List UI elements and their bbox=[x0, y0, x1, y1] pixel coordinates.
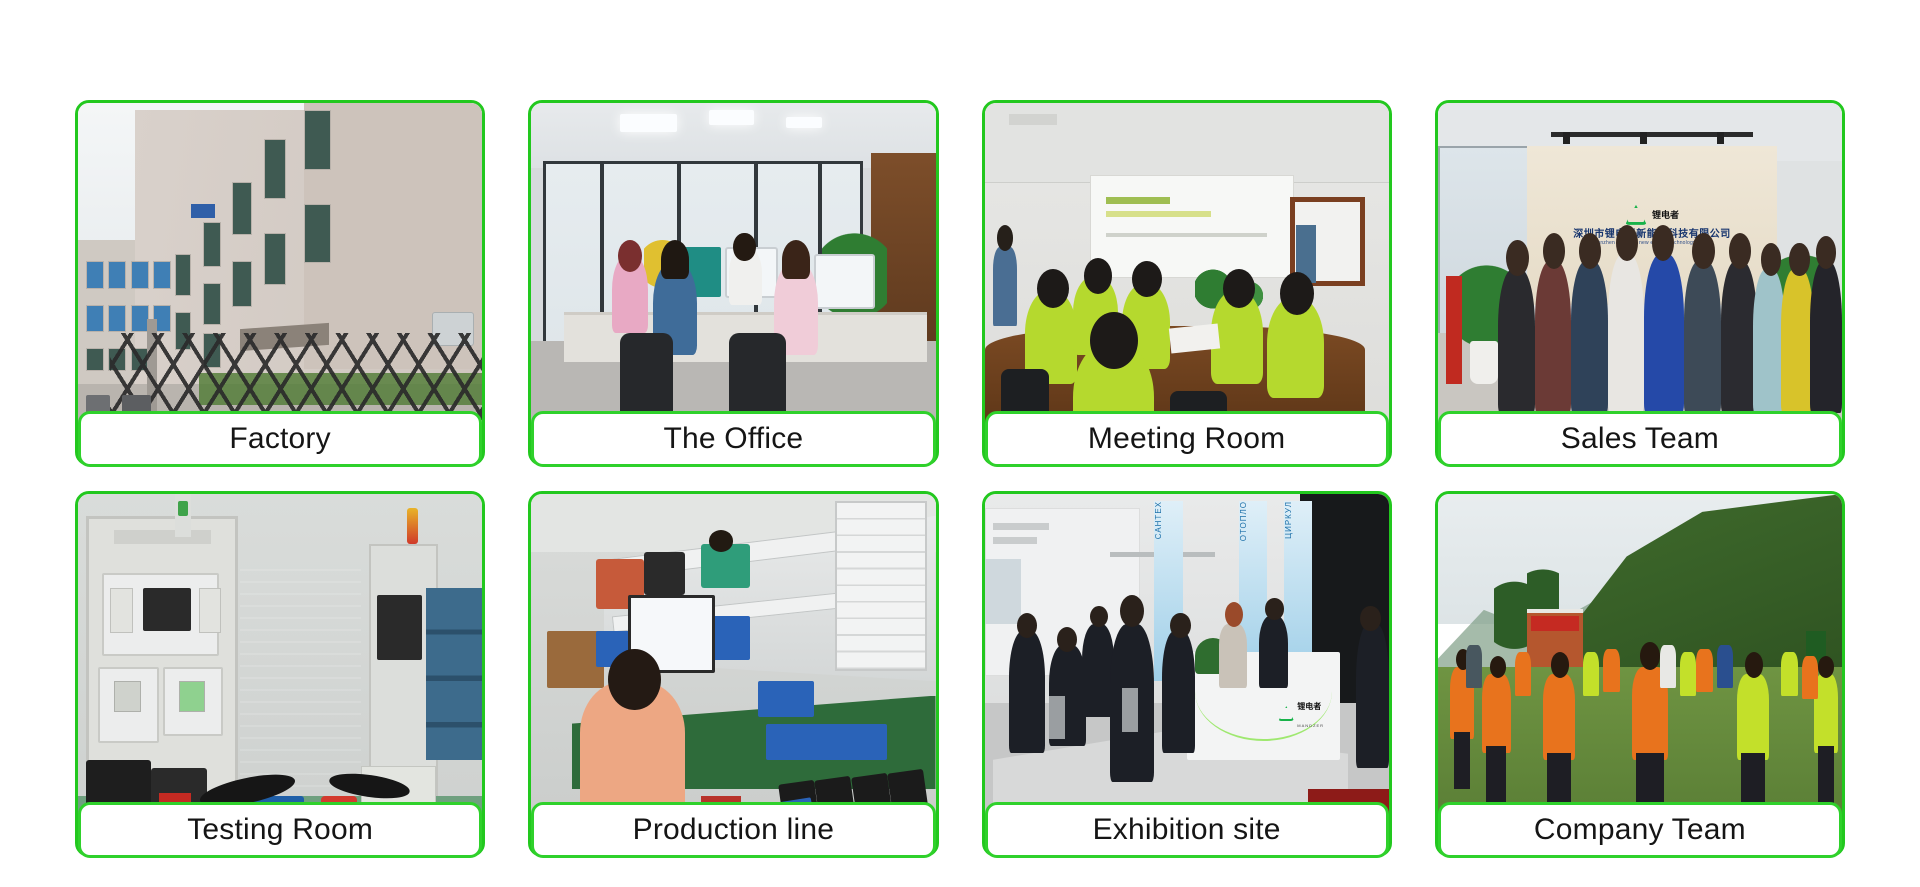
card-label-text: Sales Team bbox=[1561, 424, 1719, 454]
card-label-text: The Office bbox=[663, 424, 803, 454]
company-team-photo bbox=[1438, 494, 1842, 854]
gallery-card-factory[interactable]: Factory bbox=[75, 100, 485, 466]
production-line-photo bbox=[531, 494, 935, 854]
booth-brand-logo: 锂电者 MANDZER bbox=[1278, 696, 1324, 732]
exhibition-site-photo: САНТЕХ ОТОПЛО ЦИРКУЛ 锂电者 MANDZER bbox=[985, 494, 1389, 854]
card-label-the-office: The Office bbox=[531, 411, 935, 467]
card-label-text: Production line bbox=[633, 815, 834, 845]
card-label-text: Factory bbox=[229, 424, 330, 454]
card-label-text: Testing Room bbox=[187, 815, 373, 845]
card-label-testing-room: Testing Room bbox=[78, 802, 482, 858]
card-label-sales-team: Sales Team bbox=[1438, 411, 1842, 467]
card-label-text: Exhibition site bbox=[1093, 815, 1281, 845]
gallery-card-meeting-room[interactable]: Meeting Room bbox=[982, 100, 1392, 466]
booth-banner-text-3: ЦИРКУЛ bbox=[1284, 501, 1293, 543]
photo-gallery: Factory bbox=[0, 0, 1920, 887]
booth-banner-text-1: САНТЕХ bbox=[1154, 501, 1163, 543]
card-label-meeting-room: Meeting Room bbox=[985, 411, 1389, 467]
mandzer-logo-icon bbox=[1278, 706, 1294, 721]
gallery-card-sales-team[interactable]: 锂电者 深圳市锂电者新能源科技有限公司 Shenzhen Mandzer new… bbox=[1435, 100, 1845, 466]
gallery-card-production-line[interactable]: Production line bbox=[528, 491, 938, 857]
gallery-card-the-office[interactable]: The Office bbox=[528, 100, 938, 466]
mandzer-logo-icon bbox=[1625, 205, 1647, 225]
meeting-room-photo bbox=[985, 103, 1389, 463]
factory-photo bbox=[78, 103, 482, 463]
card-label-production-line: Production line bbox=[531, 802, 935, 858]
gallery-card-testing-room[interactable]: Testing Room bbox=[75, 491, 485, 857]
brand-name-cn: 锂电者 bbox=[1652, 208, 1679, 221]
testing-room-photo bbox=[78, 494, 482, 854]
card-label-company-team: Company Team bbox=[1438, 802, 1842, 858]
gallery-card-company-team[interactable]: Company Team bbox=[1435, 491, 1845, 857]
brand-name-en: MANDZER bbox=[1297, 723, 1324, 728]
card-label-text: Meeting Room bbox=[1088, 424, 1286, 454]
sales-team-photo: 锂电者 深圳市锂电者新能源科技有限公司 Shenzhen Mandzer new… bbox=[1438, 103, 1842, 463]
brand-name-cn: 锂电者 bbox=[1297, 702, 1321, 711]
card-label-text: Company Team bbox=[1534, 815, 1746, 845]
card-label-exhibition-site: Exhibition site bbox=[985, 802, 1389, 858]
the-office-photo bbox=[531, 103, 935, 463]
gallery-card-exhibition-site[interactable]: САНТЕХ ОТОПЛО ЦИРКУЛ 锂电者 MANDZER bbox=[982, 491, 1392, 857]
card-label-factory: Factory bbox=[78, 411, 482, 467]
booth-banner-text-2: ОТОПЛО bbox=[1239, 501, 1248, 545]
